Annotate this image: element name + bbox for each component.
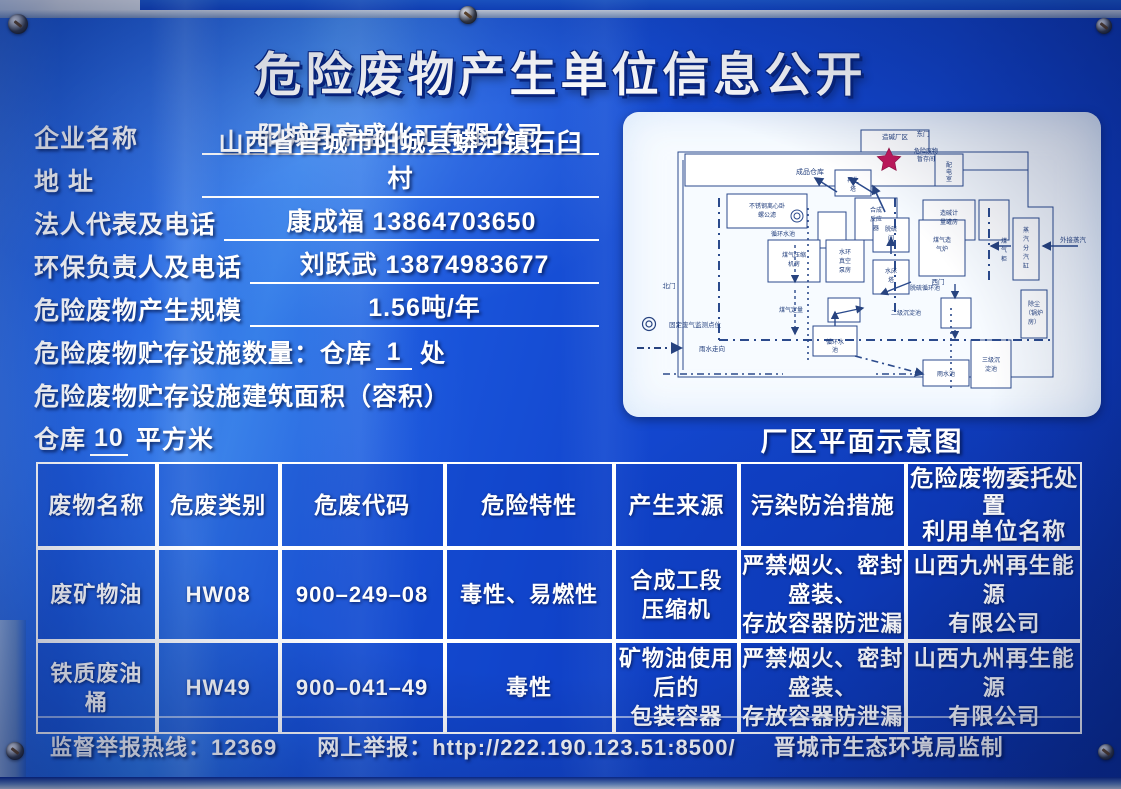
- cell-source-line1: 矿物油使用后的: [617, 644, 736, 702]
- label-sec-settle: 二级沉淀池: [891, 309, 921, 317]
- legend-text-monitor: 固定废气监测点位: [669, 320, 722, 329]
- svg-text:器: 器: [873, 225, 879, 232]
- footer-divider: [36, 716, 1082, 718]
- svg-text:室: 室: [946, 175, 952, 183]
- info-row-generation-scale: 危险废物产生规模 1.56吨/年: [34, 284, 599, 327]
- info-value-address: 山西省晋城市阳城县蟒河镇石臼村: [202, 123, 599, 198]
- info-value-env-officer: 刘跃武 13874983677: [250, 245, 599, 284]
- svg-text:机房: 机房: [788, 260, 800, 268]
- cell-waste-category: HW49: [157, 641, 280, 734]
- info-row-storage-area-label: 危险废物贮存设施建筑面积（容积）: [34, 370, 599, 413]
- label-water-vacuum: 水环: [839, 248, 851, 256]
- info-label-generation-scale: 危险废物产生规模: [34, 291, 242, 327]
- th-disposal-unit-line1: 危险废物委托处置: [909, 465, 1079, 518]
- svg-text:真空: 真空: [839, 257, 851, 265]
- label-circ-pool: 循环水: [826, 338, 844, 346]
- info-label-warehouse: 仓库: [34, 420, 86, 456]
- svg-text:气: 气: [1001, 246, 1007, 254]
- info-label-storage-count: 危险废物贮存设施数量：仓库: [34, 334, 372, 370]
- th-source: 产生来源: [614, 462, 739, 548]
- svg-text:柜: 柜: [1001, 255, 1007, 263]
- label-rain-pool: 雨水池: [937, 370, 955, 378]
- svg-text:煤: 煤: [1001, 237, 1007, 245]
- svg-text:房）: 房）: [1028, 318, 1040, 326]
- svg-text:电: 电: [946, 168, 952, 176]
- info-value-storage-area: 10: [90, 424, 128, 456]
- label-regen: 再生: [847, 176, 859, 184]
- svg-text:塔: 塔: [888, 276, 894, 284]
- cell-measures-line1: 严禁烟火、密封盛装、: [742, 551, 903, 609]
- info-row-storage-count: 危险废物贮存设施数量：仓库 1 处: [34, 327, 599, 370]
- svg-text:配: 配: [946, 162, 952, 169]
- svg-text:缸: 缸: [1023, 262, 1029, 270]
- cell-disposal-unit-line1: 山西九州再生能源: [909, 644, 1079, 702]
- info-row-env-officer: 环保负责人及电话 刘跃武 13874983677: [34, 241, 599, 284]
- cell-disposal-unit: 山西九州再生能源 有限公司: [906, 548, 1082, 641]
- footer-online-report: 网上举报：http://222.190.123.51:8500/: [317, 730, 735, 762]
- footer-authority: 晋城市生态环境局监制: [774, 730, 1004, 762]
- svg-text:塔: 塔: [850, 185, 856, 193]
- site-plan-panel: 成品仓库 配 电 室 造碱厂区 不锈钢离心卧 螺公滤 循环水池 合成 反应 器 …: [623, 112, 1101, 417]
- label-gas-compressor: 煤气压缩: [782, 251, 806, 259]
- svg-text:量罐房: 量罐房: [940, 218, 958, 226]
- cell-measures: 严禁烟火、密封盛装、 存放容器防泄漏: [739, 548, 906, 641]
- label-desulf-circ: 脱硫循环池: [910, 284, 940, 292]
- legend-text-water: 雨水走向: [699, 344, 725, 353]
- site-plan-diagram: 成品仓库 配 电 室 造碱厂区 不锈钢离心卧 螺公滤 循环水池 合成 反应 器 …: [623, 112, 1101, 417]
- cell-source-line2: 压缩机: [617, 595, 736, 624]
- cell-source: 合成工段 压缩机: [614, 548, 739, 641]
- board-top-edge-right: [140, 0, 1121, 10]
- info-value-legal-rep: 康成福 13864703650: [224, 202, 599, 241]
- cell-waste-name: 铁质废油桶: [36, 641, 157, 734]
- th-hazard-property: 危险特性: [445, 462, 614, 548]
- info-row-address: 地 址 山西省晋城市阳城县蟒河镇石臼村: [34, 155, 599, 198]
- site-plan-caption: 厂区平面示意图: [623, 420, 1101, 459]
- footer-hotline: 监督举报热线：12369: [50, 730, 277, 762]
- site-plan-svg: 成品仓库 配 电 室 造碱厂区 不锈钢离心卧 螺公滤 循环水池 合成 反应 器 …: [623, 112, 1101, 417]
- label-centrifuge: 不锈钢离心卧: [749, 202, 785, 210]
- cell-measures-line1: 严禁烟火、密封盛装、: [742, 644, 903, 702]
- cell-disposal-unit-line1: 山西九州再生能源: [909, 551, 1079, 609]
- info-label-env-officer: 环保负责人及电话: [34, 248, 242, 284]
- label-north-gate: 北门: [663, 281, 676, 290]
- svg-text:淀池: 淀池: [985, 365, 997, 373]
- label-boiler: 造碱计: [940, 209, 958, 217]
- info-label-storage-area: 危险废物贮存设施建筑面积（容积）: [34, 377, 450, 413]
- label-circ-line: 循环水池: [771, 230, 795, 238]
- mounting-screw-icon: [1098, 744, 1114, 760]
- svg-text:间: 间: [888, 234, 894, 242]
- label-office-area: 造碱厂区: [882, 132, 909, 141]
- cell-source: 矿物油使用后的 包装容器: [614, 641, 739, 734]
- hazardous-waste-table: 废物名称 危废类别 危废代码 危险特性 产生来源 污染防治措施 危险废物委托处置…: [36, 462, 1082, 734]
- label-dust-room: 除尘: [1028, 300, 1040, 308]
- label-tri-settle: 三级沉: [982, 356, 1000, 364]
- label-hazwaste-room: 危险废物: [914, 147, 938, 155]
- cell-disposal-unit: 山西九州再生能源 有限公司: [906, 641, 1082, 734]
- info-value-storage-count: 1: [376, 338, 412, 370]
- label-steam-header: 蒸: [1023, 226, 1029, 234]
- label-gas-furnace: 煤气造: [933, 236, 951, 244]
- label-water-tank: 水床: [885, 267, 897, 275]
- label-desulf: 脱硫: [885, 225, 897, 233]
- svg-text:暂存间: 暂存间: [917, 155, 935, 163]
- information-board: 危险废物产生单位信息公开 企业名称 阳城县亨盛化工有限公司 地 址 山西省晋城市…: [0, 0, 1121, 789]
- label-west-gate: 西门: [932, 277, 945, 286]
- svg-text:分: 分: [1023, 244, 1029, 252]
- board-bottom-edge: [0, 777, 1121, 789]
- svg-text:反应: 反应: [870, 215, 882, 223]
- table-row: 铁质废油桶 HW49 900–041–49 毒性 矿物油使用后的 包装容器 严禁…: [36, 641, 1082, 734]
- cell-waste-name: 废矿物油: [36, 548, 157, 641]
- cell-hazard-property: 毒性、易燃性: [445, 548, 614, 641]
- svg-text:池: 池: [832, 346, 838, 354]
- page-title: 危险废物产生单位信息公开: [0, 36, 1121, 105]
- info-label-legal-rep: 法人代表及电话: [34, 205, 216, 241]
- th-measures: 污染防治措施: [739, 462, 906, 548]
- cell-waste-category: HW08: [157, 548, 280, 641]
- svg-text:泵房: 泵房: [839, 266, 851, 274]
- cell-hazard-property: 毒性: [445, 641, 614, 734]
- info-row-legal-rep: 法人代表及电话 康成福 13864703650: [34, 198, 599, 241]
- cell-waste-code: 900–041–49: [280, 641, 445, 734]
- label-gas-meter: 煤气定量: [779, 306, 803, 314]
- cell-source-line1: 合成工段: [617, 566, 736, 595]
- th-disposal-unit: 危险废物委托处置 利用单位名称: [906, 462, 1082, 548]
- mounting-screw-icon: [459, 6, 477, 24]
- info-unit-storage-count: 处: [420, 334, 446, 370]
- label-east-gate: 东门: [917, 129, 930, 138]
- svg-text:汽: 汽: [1023, 235, 1029, 243]
- cell-measures-line2: 存放容器防泄漏: [742, 609, 903, 638]
- info-row-storage-area: 仓库 10 平方米: [34, 413, 599, 456]
- mounting-screw-icon: [6, 742, 24, 760]
- info-label-company: 企业名称: [34, 119, 194, 155]
- svg-text:气炉: 气炉: [936, 245, 948, 253]
- cell-measures: 严禁烟火、密封盛装、 存放容器防泄漏: [739, 641, 906, 734]
- company-info-block: 企业名称 阳城县亨盛化工有限公司 地 址 山西省晋城市阳城县蟒河镇石臼村 法人代…: [34, 112, 599, 456]
- svg-text:汽: 汽: [1023, 253, 1029, 261]
- cell-disposal-unit-line2: 有限公司: [909, 609, 1079, 638]
- table-header-row: 废物名称 危废类别 危废代码 危险特性 产生来源 污染防治措施 危险废物委托处置…: [36, 462, 1082, 548]
- label-external-steam: 外接蒸汽: [1060, 235, 1087, 244]
- svg-text:螺公滤: 螺公滤: [758, 211, 776, 219]
- footer-bar: 监督举报热线：12369 网上举报：http://222.190.123.51:…: [36, 726, 1082, 766]
- mounting-screw-icon: [8, 14, 28, 34]
- th-disposal-unit-line2: 利用单位名称: [909, 518, 1079, 545]
- svg-text:（锅炉: （锅炉: [1025, 309, 1043, 317]
- info-unit-storage-area: 平方米: [136, 420, 214, 456]
- label-synth: 合成: [870, 206, 882, 214]
- info-value-generation-scale: 1.56吨/年: [250, 288, 599, 327]
- th-waste-category: 危废类别: [157, 462, 280, 548]
- th-waste-code: 危废代码: [280, 462, 445, 548]
- th-waste-name: 废物名称: [36, 462, 157, 548]
- label-warehouse: 成品仓库: [796, 167, 824, 176]
- cell-waste-code: 900–249–08: [280, 548, 445, 641]
- mounting-screw-icon: [1096, 18, 1112, 34]
- table-row: 废矿物油 HW08 900–249–08 毒性、易燃性 合成工段 压缩机 严禁烟…: [36, 548, 1082, 641]
- info-label-address: 地 址: [34, 162, 194, 198]
